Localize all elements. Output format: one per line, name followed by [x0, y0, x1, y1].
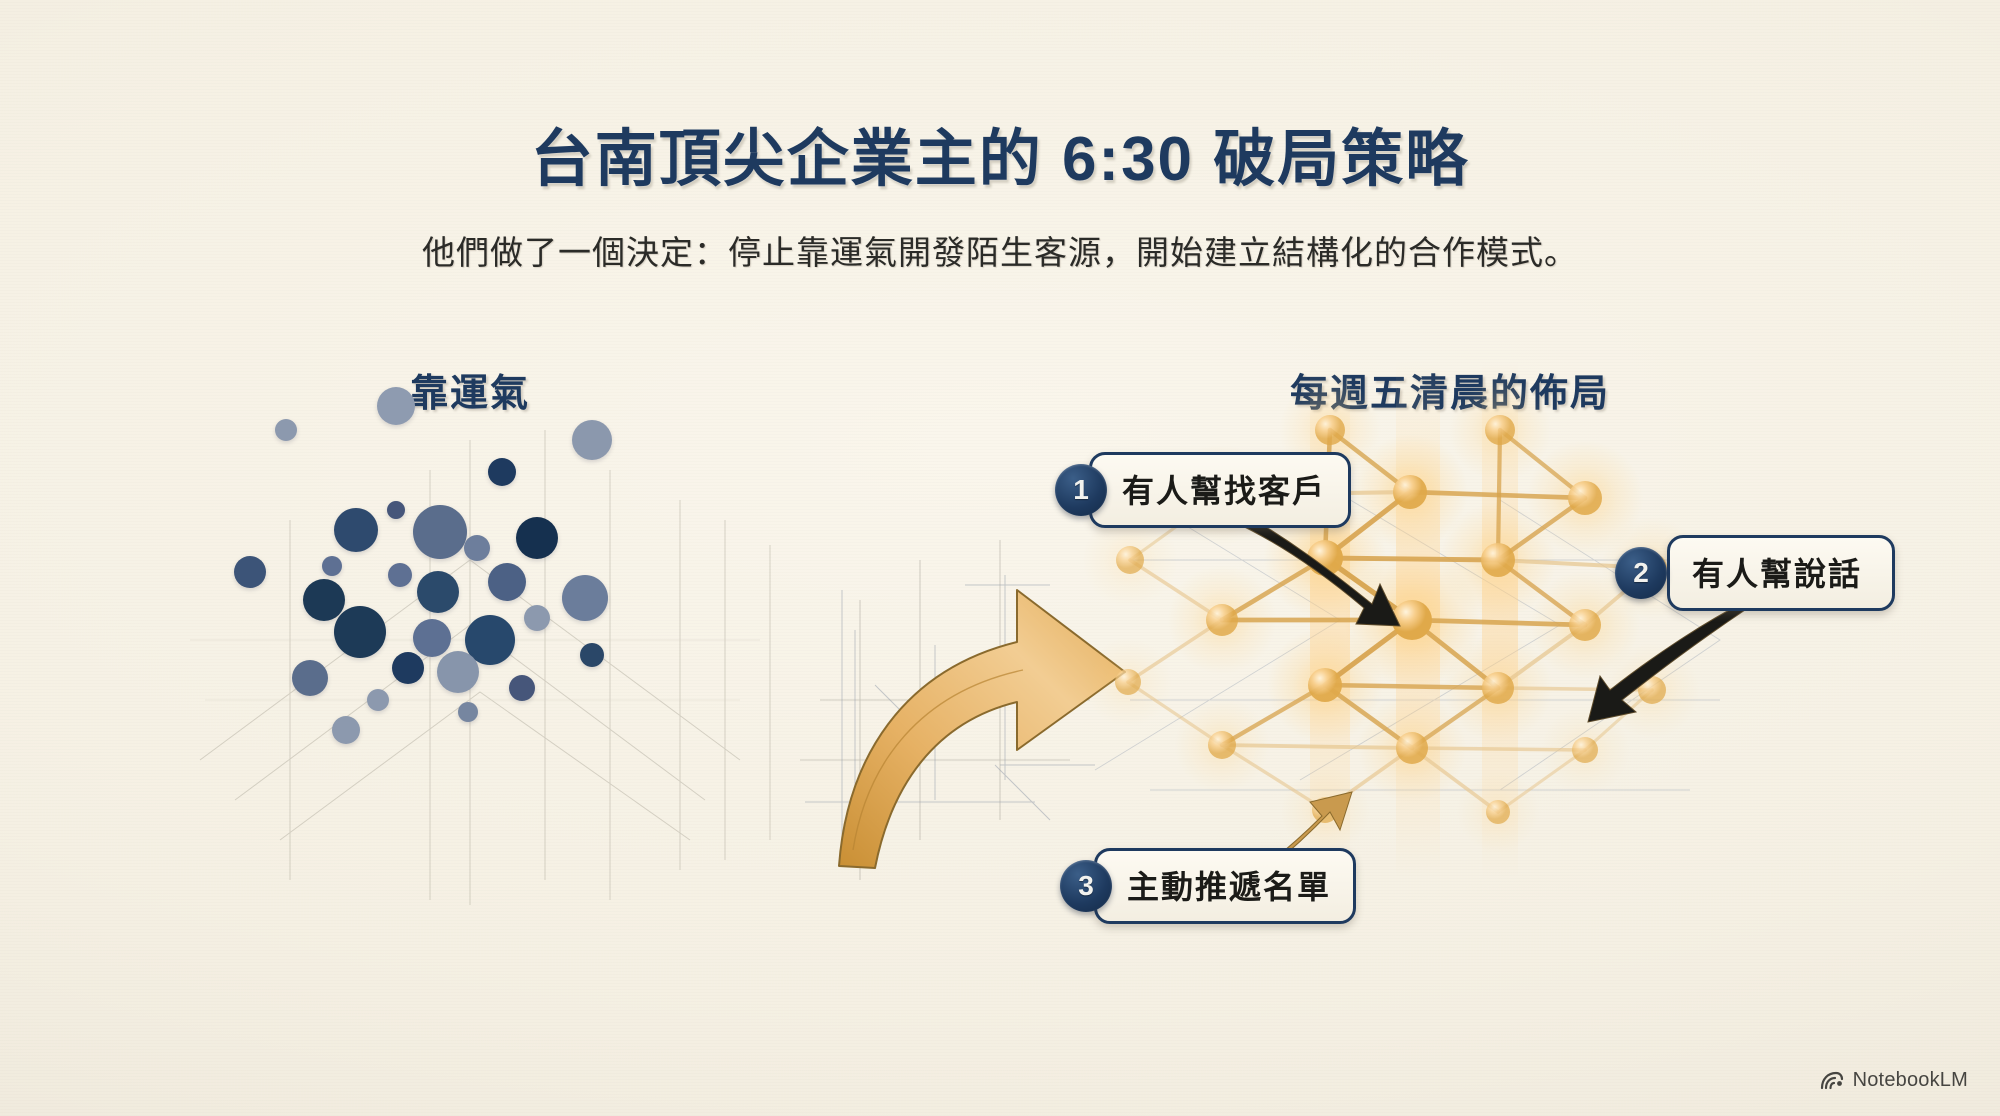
network-node [1485, 415, 1515, 445]
callout-1-badge: 1 [1055, 464, 1107, 516]
network-node [1208, 731, 1236, 759]
right-panel-heading: 每週五清晨的佈局 [1140, 362, 1760, 417]
slide-canvas: 台南頂尖企業主的 6:30 破局策略 他們做了一個決定：停止靠運氣開發陌生客源，… [0, 0, 2000, 1116]
network-node [1115, 669, 1141, 695]
notebooklm-watermark: NotebookLM [1820, 1069, 1968, 1092]
page-subtitle: 他們做了一個決定：停止靠運氣開發陌生客源，開始建立結構化的合作模式。 [0, 226, 2000, 274]
chaos-dot [292, 660, 328, 696]
watermark-label: NotebookLM [1853, 1069, 1968, 1092]
network-node [1392, 600, 1432, 640]
chaos-dot [334, 508, 378, 552]
chaos-dot [488, 563, 526, 601]
network-node [1482, 672, 1514, 704]
callout-3-badge: 3 [1060, 860, 1112, 912]
callout-1[interactable]: 1 有人幫找客戶 [1055, 452, 1351, 528]
chaos-dot [524, 605, 550, 631]
network-node [1569, 609, 1601, 641]
network-node [1307, 540, 1343, 576]
chaos-dot [488, 458, 516, 486]
chaos-dot [458, 702, 478, 722]
network-node [1393, 475, 1427, 509]
callout-1-label: 有人幫找客戶 [1089, 452, 1351, 528]
callout-3-label: 主動推遞名單 [1094, 848, 1356, 924]
chaos-dot [322, 556, 342, 576]
chaos-dot [234, 556, 266, 588]
network-node [1638, 676, 1666, 704]
notebooklm-logo-icon [1820, 1071, 1844, 1091]
chaos-dot [387, 501, 405, 519]
chaos-dot [413, 619, 451, 657]
chaos-dot [417, 571, 459, 613]
chaos-dot [580, 643, 604, 667]
network-node [1572, 737, 1598, 763]
chaos-dot [275, 419, 297, 441]
network-node [1396, 732, 1428, 764]
chaos-dot [413, 505, 467, 559]
network-edge [1498, 430, 1500, 560]
chaos-dot [303, 579, 345, 621]
callout-2[interactable]: 2 有人幫說話 [1615, 535, 1877, 611]
network-node [1481, 543, 1515, 577]
page-title: 台南頂尖企業主的 6:30 破局策略 [0, 108, 2000, 198]
network-edge [1325, 685, 1498, 688]
callout-2-badge: 2 [1615, 547, 1667, 599]
chaos-dot [437, 651, 479, 693]
chaos-dot-cluster [200, 400, 760, 840]
network-node [1315, 415, 1345, 445]
chaos-dot [388, 563, 412, 587]
chaos-dot [392, 652, 424, 684]
header: 台南頂尖企業主的 6:30 破局策略 他們做了一個決定：停止靠運氣開發陌生客源，… [0, 0, 2000, 274]
callout-2-label: 有人幫說話 [1667, 535, 1895, 611]
chaos-dot [334, 606, 386, 658]
network-node [1206, 604, 1238, 636]
chaos-dot [377, 387, 415, 425]
network-node [1308, 668, 1342, 702]
chaos-dot [572, 420, 612, 460]
chaos-dot [367, 689, 389, 711]
chaos-dot [464, 535, 490, 561]
chaos-dot [332, 716, 360, 744]
chaos-dot [509, 675, 535, 701]
network-node [1486, 800, 1510, 824]
network-edge [1498, 688, 1652, 690]
network-edge [1412, 748, 1585, 750]
network-node [1116, 546, 1144, 574]
network-node [1568, 481, 1602, 515]
chaos-dot [562, 575, 608, 621]
network-node [1312, 797, 1338, 823]
network-edge [1325, 558, 1498, 560]
callout-3[interactable]: 3 主動推遞名單 [1060, 848, 1356, 924]
chaos-dot [516, 517, 558, 559]
